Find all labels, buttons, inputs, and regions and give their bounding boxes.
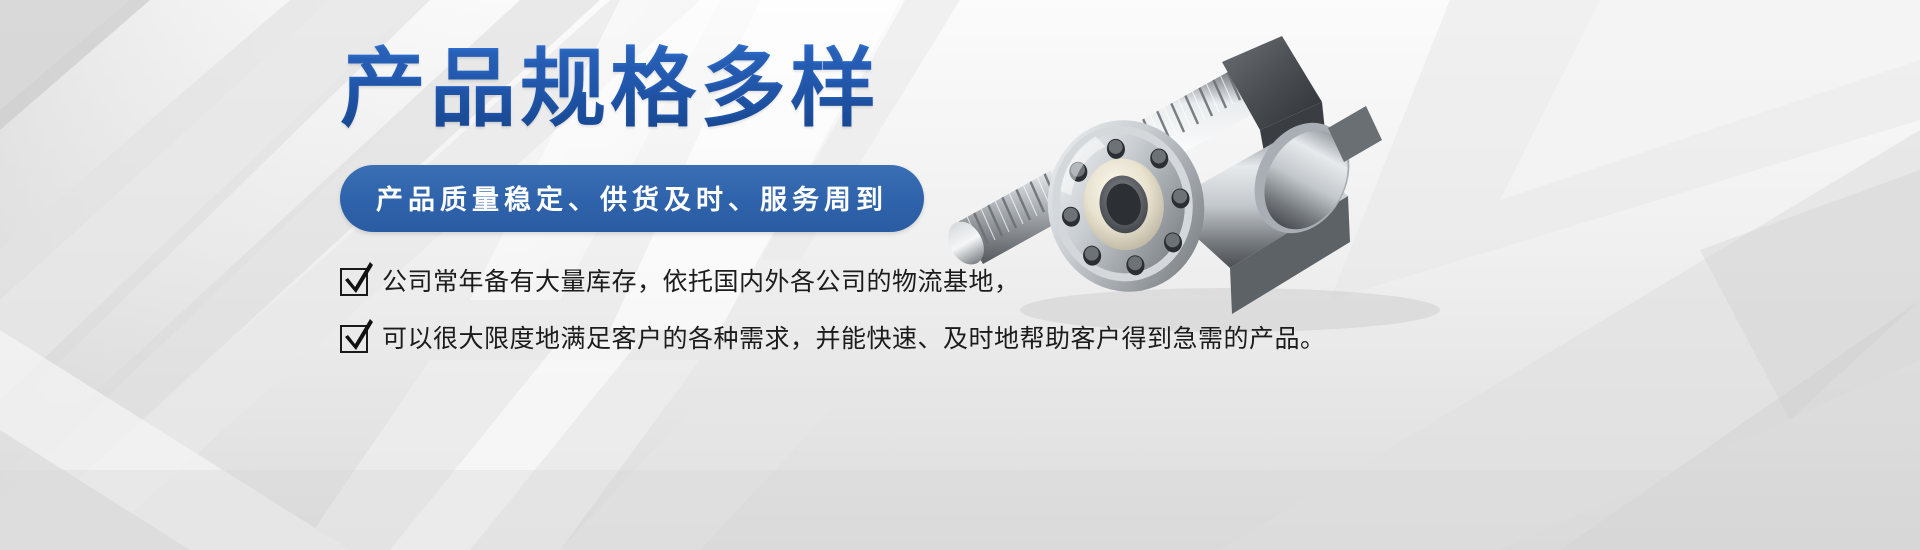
list-item-label: 可以很大限度地满足客户的各种需求，并能快速、及时地帮助客户得到急需的产品。 bbox=[382, 323, 1326, 356]
feature-list: 公司常年备有大量库存，依托国内外各公司的物流基地， 可以很大限度地满足客户的各种… bbox=[340, 266, 1540, 355]
list-item-label: 公司常年备有大量库存，依托国内外各公司的物流基地， bbox=[382, 266, 1020, 299]
checkmark-icon bbox=[340, 268, 368, 296]
status-badge: 产品质量稳定、供货及时、服务周到 bbox=[340, 165, 924, 232]
checkmark-icon bbox=[340, 325, 368, 353]
list-item: 可以很大限度地满足客户的各种需求，并能快速、及时地帮助客户得到急需的产品。 bbox=[340, 323, 1540, 356]
banner-content: 产品规格多样 产品质量稳定、供货及时、服务周到 公司常年备有大量库存，依托国内外… bbox=[340, 44, 1540, 379]
promo-banner: 产品规格多样 产品质量稳定、供货及时、服务周到 公司常年备有大量库存，依托国内外… bbox=[0, 0, 1920, 550]
list-item: 公司常年备有大量库存，依托国内外各公司的物流基地， bbox=[340, 266, 1540, 299]
page-title: 产品规格多样 bbox=[340, 44, 1540, 135]
